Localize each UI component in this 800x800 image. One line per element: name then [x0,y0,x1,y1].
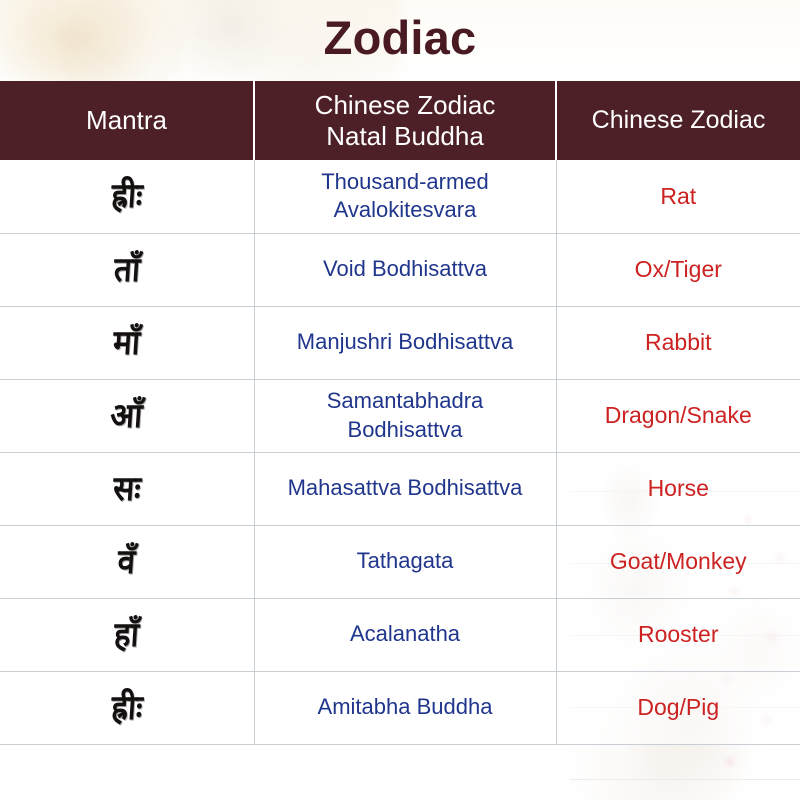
natal-buddha-line1: Tathagata [357,548,454,573]
hrih-seed-syllable: ह्रीः [110,179,143,213]
man-seed-syllable: माँ [112,326,141,360]
an-seed-syllable: आँ [110,399,144,433]
natal-buddha-line1: Mahasattva Bodhisattva [288,475,523,500]
zodiac-page: Zodiac Mantra Chinese Zodiac Natal Buddh… [0,0,800,800]
page-title: Zodiac [324,14,477,67]
table-row: माँManjushri BodhisattvaRabbit [0,306,800,379]
cell-mantra: हाँ [0,598,254,671]
table-row: हाँAcalanathaRooster [0,598,800,671]
title-bar: Zodiac [0,0,800,81]
cell-chinese-zodiac: Dog/Pig [556,671,800,744]
column-header-chinese-zodiac: Chinese Zodiac [556,81,800,160]
cell-chinese-zodiac: Dragon/Snake [556,379,800,452]
cell-natal-buddha: Thousand-armedAvalokitesvara [254,160,556,233]
hrih-seed-syllable: ह्रीः [110,691,143,725]
natal-buddha-line1: Amitabha Buddha [318,694,493,719]
natal-buddha-line1: Void Bodhisattva [323,256,487,281]
column-header-natal-buddha: Chinese Zodiac Natal Buddha [254,81,556,160]
cell-chinese-zodiac: Rabbit [556,306,800,379]
natal-buddha-line1: Acalanatha [350,621,460,646]
cell-mantra: आँ [0,379,254,452]
table-header: Mantra Chinese Zodiac Natal Buddha Chine… [0,81,800,160]
natal-buddha-line2: Avalokitesvara [334,197,477,222]
zodiac-table: Mantra Chinese Zodiac Natal Buddha Chine… [0,81,800,745]
table-row: ह्रीःThousand-armedAvalokitesvaraRat [0,160,800,233]
cell-mantra: सः [0,452,254,525]
cell-chinese-zodiac: Goat/Monkey [556,525,800,598]
table-body: ह्रीःThousand-armedAvalokitesvaraRatताँV… [0,160,800,744]
cell-natal-buddha: Manjushri Bodhisattva [254,306,556,379]
table-header-row: Mantra Chinese Zodiac Natal Buddha Chine… [0,81,800,160]
natal-buddha-line1: Thousand-armed [321,169,489,194]
cell-natal-buddha: Amitabha Buddha [254,671,556,744]
cell-mantra: ताँ [0,233,254,306]
sah-seed-syllable: सः [112,472,142,506]
table-row: आँSamantabhadraBodhisattvaDragon/Snake [0,379,800,452]
column-header-mantra: Mantra [0,81,254,160]
tram-seed-syllable: ताँ [113,253,141,287]
cell-chinese-zodiac: Rat [556,160,800,233]
cell-chinese-zodiac: Ox/Tiger [556,233,800,306]
table-row: वँTathagataGoat/Monkey [0,525,800,598]
cell-mantra: वँ [0,525,254,598]
cell-chinese-zodiac: Horse [556,452,800,525]
column-header-natal-line1: Chinese Zodiac [315,90,496,120]
ham-seed-syllable: हाँ [113,618,140,652]
cell-natal-buddha: Tathagata [254,525,556,598]
natal-buddha-line1: Samantabhadra [327,388,484,413]
table-row: सःMahasattva BodhisattvaHorse [0,452,800,525]
cell-natal-buddha: Acalanatha [254,598,556,671]
cell-mantra: माँ [0,306,254,379]
cell-natal-buddha: Mahasattva Bodhisattva [254,452,556,525]
cell-natal-buddha: SamantabhadraBodhisattva [254,379,556,452]
cell-mantra: ह्रीः [0,160,254,233]
cell-mantra: ह्रीः [0,671,254,744]
cell-natal-buddha: Void Bodhisattva [254,233,556,306]
natal-buddha-line2: Bodhisattva [348,417,463,442]
natal-buddha-line1: Manjushri Bodhisattva [297,329,513,354]
vam-seed-syllable: वँ [117,545,137,579]
table-row: ताँVoid BodhisattvaOx/Tiger [0,233,800,306]
cell-chinese-zodiac: Rooster [556,598,800,671]
table-row: ह्रीःAmitabha BuddhaDog/Pig [0,671,800,744]
column-header-natal-line2: Natal Buddha [326,121,484,151]
